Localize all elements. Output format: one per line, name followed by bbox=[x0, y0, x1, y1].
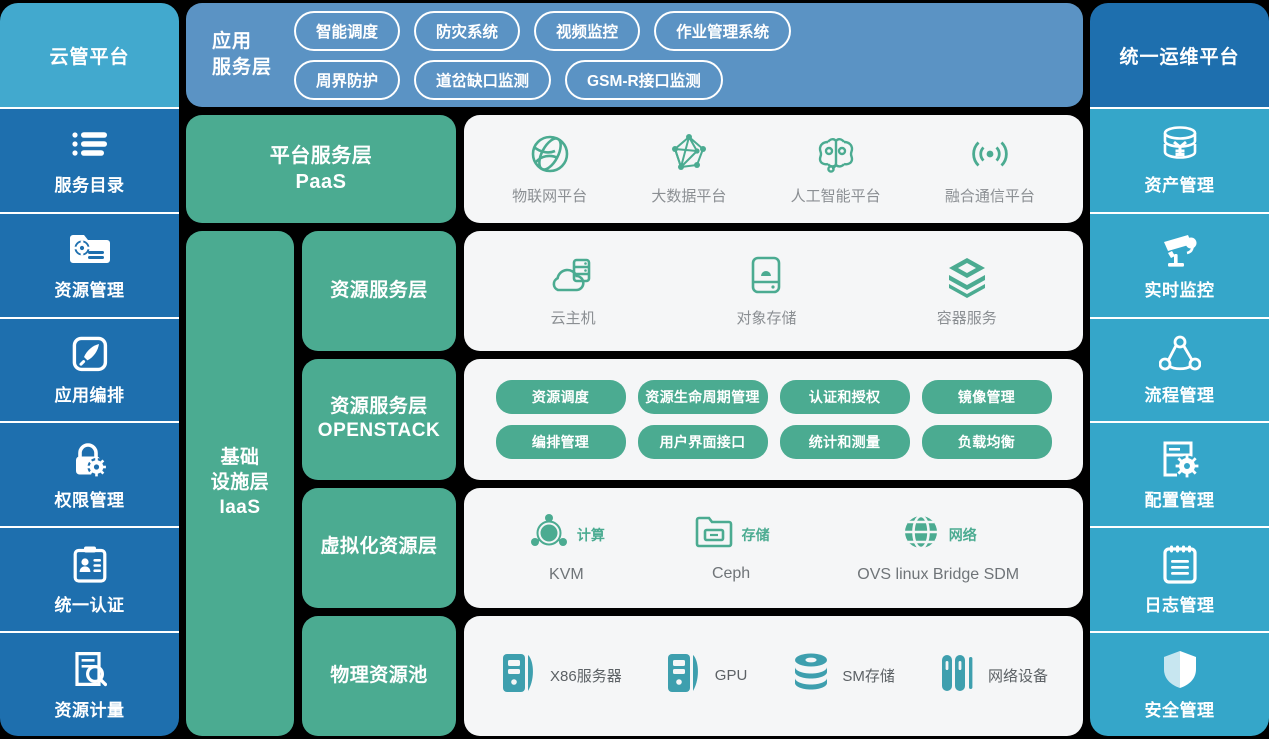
paas-item-label: 融合通信平台 bbox=[945, 185, 1035, 206]
paas-item-label: 大数据平台 bbox=[651, 185, 726, 206]
bigdata-network-icon bbox=[667, 132, 711, 176]
physical-item-sm-storage[interactable]: SM存储 bbox=[789, 650, 895, 701]
openstack-module-pill[interactable]: 编排管理 bbox=[496, 425, 626, 459]
document-search-icon bbox=[73, 649, 107, 689]
sidebar-item-label: 服务目录 bbox=[55, 171, 125, 196]
left-sidebar: 云管平台 服务目录 bbox=[0, 3, 179, 736]
ai-brain-icon bbox=[814, 132, 858, 176]
iaas-layer-label: 基础 设施层 IaaS bbox=[186, 231, 294, 736]
paas-items: 物联网平台 bbox=[464, 132, 1083, 206]
sidebar-item-asset-management[interactable]: 资产管理 bbox=[1090, 107, 1269, 212]
resource-service-layer-label: 资源服务层 bbox=[302, 231, 456, 351]
resource-item-label: 容器服务 bbox=[937, 307, 997, 328]
resource-service-panel: 云主机 对象存储 bbox=[464, 231, 1083, 351]
cloud-server-icon bbox=[550, 254, 596, 298]
physical-item-label: GPU bbox=[715, 667, 748, 684]
app-module-pill[interactable]: 作业管理系统 bbox=[654, 11, 791, 51]
sidebar-item-label: 资产管理 bbox=[1145, 171, 1215, 196]
cctv-camera-icon bbox=[1158, 229, 1202, 269]
openstack-modules-row-1: 资源调度 资源生命周期管理 认证和授权 镜像管理 bbox=[484, 380, 1063, 414]
pen-square-icon bbox=[72, 334, 108, 374]
physical-pool-panel: X86服务器 bbox=[464, 616, 1083, 736]
paas-layer-label: 平台服务层 PaaS bbox=[186, 115, 456, 223]
virtualization-item-top: 网络 bbox=[900, 511, 977, 558]
sidebar-item-security-management[interactable]: 安全管理 bbox=[1090, 631, 1269, 736]
app-module-pill[interactable]: 周界防护 bbox=[294, 60, 400, 100]
physical-item-gpu[interactable]: GPU bbox=[664, 650, 748, 701]
iaas-section: 基础 设施层 IaaS 资源服务层 资源服务层 OPENSTACK 虚拟化资源层… bbox=[186, 231, 456, 736]
paas-item-bigdata[interactable]: 大数据平台 bbox=[651, 132, 726, 206]
sidebar-item-label: 安全管理 bbox=[1145, 696, 1215, 721]
layer-label-column: 平台服务层 PaaS 基础 设施层 IaaS 资源服务层 资源服务层 OPENS… bbox=[186, 115, 456, 736]
sidebar-item-log-management[interactable]: 日志管理 bbox=[1090, 526, 1269, 631]
database-coin-icon bbox=[1158, 124, 1202, 164]
right-sidebar: 统一运维平台 资产管理 bbox=[1090, 3, 1269, 736]
openstack-module-pill[interactable]: 资源生命周期管理 bbox=[638, 380, 768, 414]
virtualization-item-side-label: 存储 bbox=[742, 525, 770, 545]
physical-pool-items: X86服务器 bbox=[464, 650, 1083, 701]
paas-item-label: 人工智能平台 bbox=[791, 185, 881, 206]
virtualization-item-caption: KVM bbox=[549, 566, 584, 584]
lock-gear-icon bbox=[70, 439, 110, 479]
workflow-nodes-icon bbox=[1159, 334, 1201, 374]
paas-item-ai[interactable]: 人工智能平台 bbox=[791, 132, 881, 206]
network-device-icon bbox=[937, 650, 979, 701]
list-icon bbox=[70, 124, 110, 164]
physical-item-label: 网络设备 bbox=[988, 665, 1048, 686]
sidebar-item-label: 统一认证 bbox=[55, 591, 125, 616]
compute-node-icon bbox=[528, 511, 570, 558]
signal-waves-icon bbox=[968, 132, 1012, 176]
sidebar-item-config-management[interactable]: 配置管理 bbox=[1090, 421, 1269, 526]
paas-item-label: 物联网平台 bbox=[512, 185, 587, 206]
sidebar-item-permission-management[interactable]: 权限管理 bbox=[0, 421, 179, 526]
virtualization-item-top: 存储 bbox=[693, 512, 770, 557]
network-globe-icon bbox=[900, 511, 942, 558]
right-sidebar-title: 统一运维平台 bbox=[1090, 3, 1269, 107]
openstack-module-pill[interactable]: 认证和授权 bbox=[780, 380, 910, 414]
app-module-pill[interactable]: GSM-R接口监测 bbox=[565, 60, 723, 100]
layer-content-column: 物联网平台 bbox=[464, 115, 1083, 736]
sidebar-item-resource-metering[interactable]: 资源计量 bbox=[0, 631, 179, 736]
gpu-tower-icon bbox=[664, 650, 706, 701]
app-module-pill[interactable]: 道岔缺口监测 bbox=[414, 60, 551, 100]
application-modules-row-1: 智能调度 防灾系统 视频监控 作业管理系统 bbox=[294, 11, 1065, 51]
application-service-layer: 应用 服务层 智能调度 防灾系统 视频监控 作业管理系统 周界防护 道岔缺口监测… bbox=[186, 3, 1083, 107]
virtualization-item-caption: Ceph bbox=[712, 565, 750, 583]
sidebar-item-label: 配置管理 bbox=[1145, 486, 1215, 511]
virtualization-layer-label: 虚拟化资源层 bbox=[302, 488, 456, 608]
virtualization-item-storage[interactable]: 存储 Ceph bbox=[693, 512, 770, 583]
resource-item-container-service[interactable]: 容器服务 bbox=[937, 254, 997, 328]
application-service-layer-title: 应用 服务层 bbox=[212, 29, 272, 80]
virtualization-items: 计算 KVM bbox=[464, 511, 1083, 584]
app-module-pill[interactable]: 防灾系统 bbox=[414, 11, 520, 51]
config-gear-icon bbox=[1160, 439, 1200, 479]
application-modules: 智能调度 防灾系统 视频监控 作业管理系统 周界防护 道岔缺口监测 GSM-R接… bbox=[294, 11, 1065, 100]
virtualization-panel: 计算 KVM bbox=[464, 488, 1083, 608]
sidebar-item-label: 流程管理 bbox=[1145, 381, 1215, 406]
openstack-modules-row-2: 编排管理 用户界面接口 统计和测量 负载均衡 bbox=[484, 425, 1063, 459]
physical-item-network-device[interactable]: 网络设备 bbox=[937, 650, 1048, 701]
openstack-module-pill[interactable]: 用户界面接口 bbox=[638, 425, 768, 459]
architecture-diagram: 云管平台 服务目录 bbox=[0, 0, 1269, 739]
resource-item-label: 对象存储 bbox=[736, 307, 796, 328]
resource-service-items: 云主机 对象存储 bbox=[464, 254, 1083, 328]
sidebar-item-label: 应用编排 bbox=[55, 381, 125, 406]
disk-stack-icon bbox=[789, 650, 833, 701]
platform-body: 平台服务层 PaaS 基础 设施层 IaaS 资源服务层 资源服务层 OPENS… bbox=[186, 115, 1083, 736]
sidebar-item-resource-management[interactable]: 资源管理 bbox=[0, 212, 179, 317]
iaas-sublayer-labels: 资源服务层 资源服务层 OPENSTACK 虚拟化资源层 物理资源池 bbox=[302, 231, 456, 736]
virtualization-item-top: 计算 bbox=[528, 511, 605, 558]
storage-folder-icon bbox=[693, 512, 735, 557]
physical-item-x86-server[interactable]: X86服务器 bbox=[499, 650, 622, 701]
folder-gear-icon bbox=[68, 229, 112, 269]
app-module-pill[interactable]: 视频监控 bbox=[534, 11, 640, 51]
sidebar-item-realtime-monitoring[interactable]: 实时监控 bbox=[1090, 212, 1269, 317]
resource-item-cloud-host[interactable]: 云主机 bbox=[550, 254, 596, 328]
server-tower-icon bbox=[499, 650, 541, 701]
physical-pool-label: 物理资源池 bbox=[302, 616, 456, 736]
sidebar-item-label: 资源管理 bbox=[55, 276, 125, 301]
virtualization-item-network[interactable]: 网络 OVS linux Bridge SDM bbox=[857, 511, 1019, 584]
sidebar-item-unified-auth[interactable]: 统一认证 bbox=[0, 526, 179, 631]
sidebar-item-label: 资源计量 bbox=[55, 696, 125, 721]
left-sidebar-title: 云管平台 bbox=[0, 3, 179, 107]
openstack-module-pill[interactable]: 资源调度 bbox=[496, 380, 626, 414]
sidebar-item-label: 日志管理 bbox=[1145, 591, 1215, 616]
openstack-layer-label: 资源服务层 OPENSTACK bbox=[302, 359, 456, 479]
resource-item-label: 云主机 bbox=[551, 307, 596, 328]
sidebar-item-label: 实时监控 bbox=[1145, 276, 1215, 301]
openstack-modules: 资源调度 资源生命周期管理 认证和授权 镜像管理 编排管理 用户界面接口 统计和… bbox=[464, 380, 1083, 459]
resource-item-object-storage[interactable]: 对象存储 bbox=[736, 254, 796, 328]
paas-item-iot[interactable]: 物联网平台 bbox=[512, 132, 587, 206]
clipboard-lines-icon bbox=[1162, 544, 1198, 584]
paas-item-communication[interactable]: 融合通信平台 bbox=[945, 132, 1035, 206]
openstack-panel: 资源调度 资源生命周期管理 认证和授权 镜像管理 编排管理 用户界面接口 统计和… bbox=[464, 359, 1083, 479]
virtualization-item-caption: OVS linux Bridge SDM bbox=[857, 566, 1019, 584]
sidebar-item-app-orchestration[interactable]: 应用编排 bbox=[0, 317, 179, 422]
virtualization-item-side-label: 网络 bbox=[949, 525, 977, 545]
virtualization-item-side-label: 计算 bbox=[577, 525, 605, 545]
openstack-module-pill[interactable]: 负载均衡 bbox=[922, 425, 1052, 459]
sidebar-item-service-catalog[interactable]: 服务目录 bbox=[0, 107, 179, 212]
openstack-module-pill[interactable]: 统计和测量 bbox=[780, 425, 910, 459]
virtualization-item-compute[interactable]: 计算 KVM bbox=[528, 511, 605, 584]
openstack-module-pill[interactable]: 镜像管理 bbox=[922, 380, 1052, 414]
application-modules-row-2: 周界防护 道岔缺口监测 GSM-R接口监测 bbox=[294, 60, 1065, 100]
object-storage-icon bbox=[746, 254, 786, 298]
iot-globe-icon bbox=[528, 132, 572, 176]
main-architecture-column: 应用 服务层 智能调度 防灾系统 视频监控 作业管理系统 周界防护 道岔缺口监测… bbox=[186, 3, 1083, 736]
app-module-pill[interactable]: 智能调度 bbox=[294, 11, 400, 51]
physical-item-label: SM存储 bbox=[842, 665, 895, 686]
physical-item-label: X86服务器 bbox=[550, 665, 622, 686]
sidebar-item-process-management[interactable]: 流程管理 bbox=[1090, 317, 1269, 422]
paas-content-panel: 物联网平台 bbox=[464, 115, 1083, 223]
sidebar-item-label: 权限管理 bbox=[55, 486, 125, 511]
shield-icon bbox=[1161, 649, 1199, 689]
id-badge-icon bbox=[73, 544, 107, 584]
container-stack-icon bbox=[945, 254, 989, 298]
